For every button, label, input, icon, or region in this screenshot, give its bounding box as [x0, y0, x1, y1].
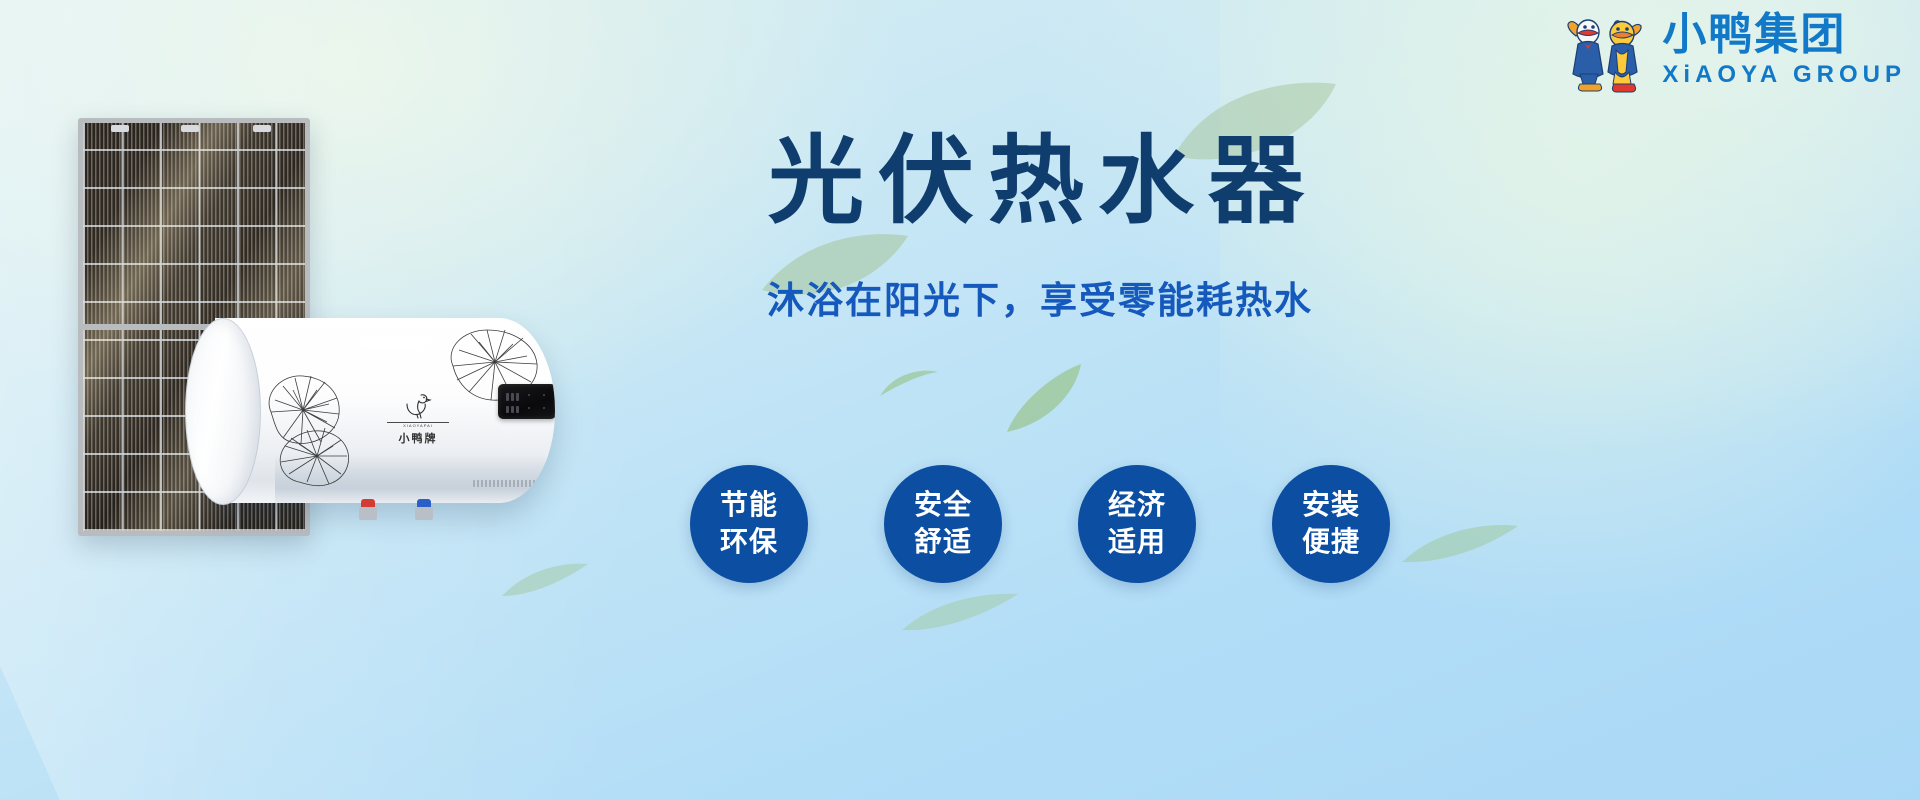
badge-line-2: 舒适	[914, 524, 972, 561]
badge-energy-saving[interactable]: 节能 环保	[690, 465, 808, 583]
leaf-icon	[500, 560, 590, 600]
copy-block: 光伏热水器 沐浴在阳光下，享受零能耗热水	[690, 128, 1390, 324]
badge-line-1: 经济	[1108, 487, 1166, 524]
badge-line-2: 便捷	[1302, 524, 1360, 561]
badge-line-1: 安装	[1302, 487, 1360, 524]
leaf-icon	[900, 590, 1020, 634]
badge-safety[interactable]: 安全 舒适	[884, 465, 1002, 583]
inlet-pipe	[417, 499, 431, 519]
badge-installation[interactable]: 安装 便捷	[1272, 465, 1390, 583]
badge-line-1: 节能	[720, 487, 778, 524]
outlet-pipe	[361, 499, 375, 519]
badge-line-2: 适用	[1108, 524, 1166, 561]
brand-name-en: XIAOYAPAI	[380, 424, 456, 428]
duck-outline-icon	[403, 390, 433, 420]
product-sticker	[473, 480, 543, 487]
water-heater-icon: XIAOYAPAI 小鸭牌	[215, 318, 555, 503]
panel-tab	[181, 125, 199, 132]
leaf-icon	[1005, 362, 1083, 434]
tank-end-cap	[185, 318, 261, 505]
leaf-icon	[878, 368, 940, 400]
badge-economy[interactable]: 经济 适用	[1078, 465, 1196, 583]
logo-name-en: XiAOYA GROUP	[1662, 63, 1906, 87]
panel-tab	[253, 125, 271, 132]
panel-tab	[111, 125, 129, 132]
brand-logo[interactable]: 小鸭集团 XiAOYA GROUP	[1562, 6, 1906, 94]
badge-line-2: 环保	[720, 524, 778, 561]
water-heater: XIAOYAPAI 小鸭牌	[185, 318, 555, 503]
promo-banner: 小鸭集团 XiAOYA GROUP	[0, 0, 1920, 800]
leaf-icon	[1400, 520, 1520, 566]
brand-name-cn: 小鸭牌	[380, 430, 456, 446]
badge-line-1: 安全	[914, 487, 972, 524]
two-ducks-mascot-icon	[1562, 6, 1654, 94]
tank-shadow	[275, 455, 545, 503]
digital-display-icon[interactable]	[498, 384, 555, 419]
subtitle: 沐浴在阳光下，享受零能耗热水	[690, 270, 1390, 324]
feature-badges: 节能 环保 安全 舒适 经济 适用 安装 便捷	[690, 465, 1390, 583]
page-title: 光伏热水器	[696, 128, 1390, 236]
light-wash-overlay-right	[1220, 0, 1920, 700]
logo-name-cn: 小鸭集团	[1662, 13, 1846, 57]
tank-highlight	[305, 336, 525, 350]
product-brand-mark: XIAOYAPAI 小鸭牌	[380, 390, 456, 446]
